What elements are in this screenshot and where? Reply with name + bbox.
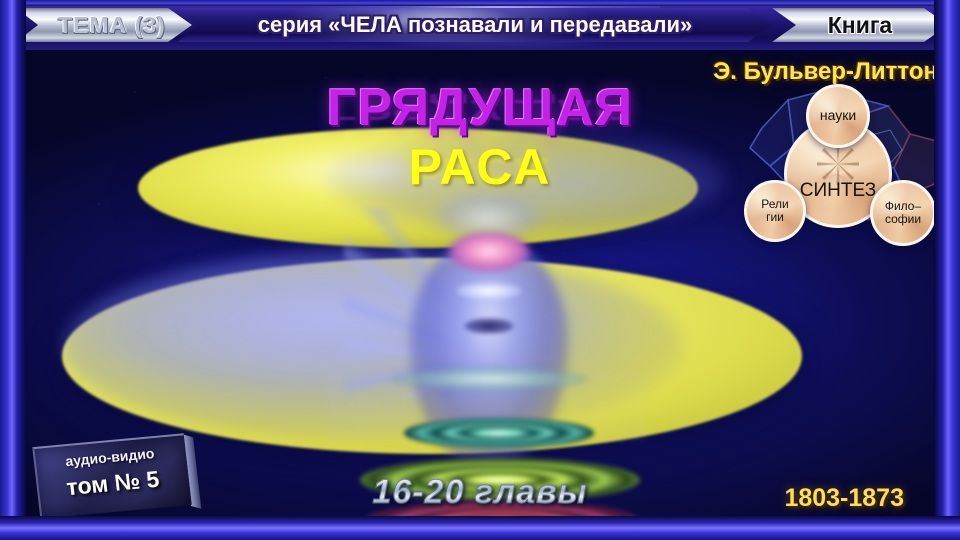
audio-video-plaque: аудио-видио том № 5 — [32, 433, 192, 519]
topic-label: ТЕМА (3) — [58, 12, 166, 39]
synthesis-science-bubble: науки — [806, 84, 870, 148]
slide-canvas: ГРЯДУЩАЯ ГРЯДУЩАЯ РАСА РАСА Э. Бульвер-Л… — [0, 0, 960, 540]
synthesis-religion-label-line2: гии — [766, 211, 784, 224]
synthesis-philosophy-label-line2: софии — [885, 213, 921, 226]
synthesis-religion-bubble: Рели гии — [744, 180, 806, 242]
book-banner[interactable]: Книга — [772, 8, 948, 42]
series-label: серия «ЧЕЛА познавали и передавали» — [258, 12, 692, 38]
core-ring — [464, 318, 514, 334]
synthesis-science-label: науки — [820, 108, 856, 123]
head-glow — [448, 232, 530, 272]
throat-ring — [456, 282, 522, 300]
series-banner[interactable]: серия «ЧЕЛА познавали и передавали» — [178, 8, 772, 42]
book-label: Книга — [828, 12, 892, 39]
chakra-ring-teal — [404, 418, 594, 448]
synthesis-center-label: СИНТЕЗ — [800, 181, 876, 202]
synthesis-diagram: СИНТЕЗ науки Рели гии Фило– софии — [748, 88, 948, 248]
chapter-range-text: 16-20 главы — [372, 473, 587, 511]
frame-bottom-edge — [0, 516, 960, 540]
base-disc — [390, 366, 590, 392]
starburst-icon — [817, 143, 859, 185]
topic-banner[interactable]: ТЕМА (3) — [16, 8, 192, 42]
author-name: Э. Бульвер-Литтон — [713, 58, 938, 86]
header-band: ТЕМА (3) серия «ЧЕЛА познавали и передав… — [0, 0, 960, 50]
synthesis-philosophy-bubble: Фило– софии — [870, 180, 936, 246]
